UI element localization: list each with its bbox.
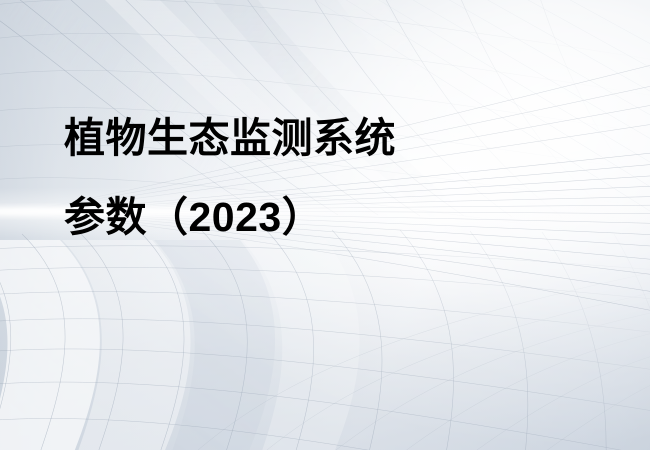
slide-title-block: 植物生态监测系统 参数（2023） [64, 118, 584, 238]
title-slide: 植物生态监测系统 参数（2023） [0, 0, 650, 450]
slide-title-line-1: 植物生态监测系统 [64, 118, 584, 159]
slide-title-line-2: 参数（2023） [64, 197, 584, 238]
lower-mesh-surface [0, 230, 650, 450]
